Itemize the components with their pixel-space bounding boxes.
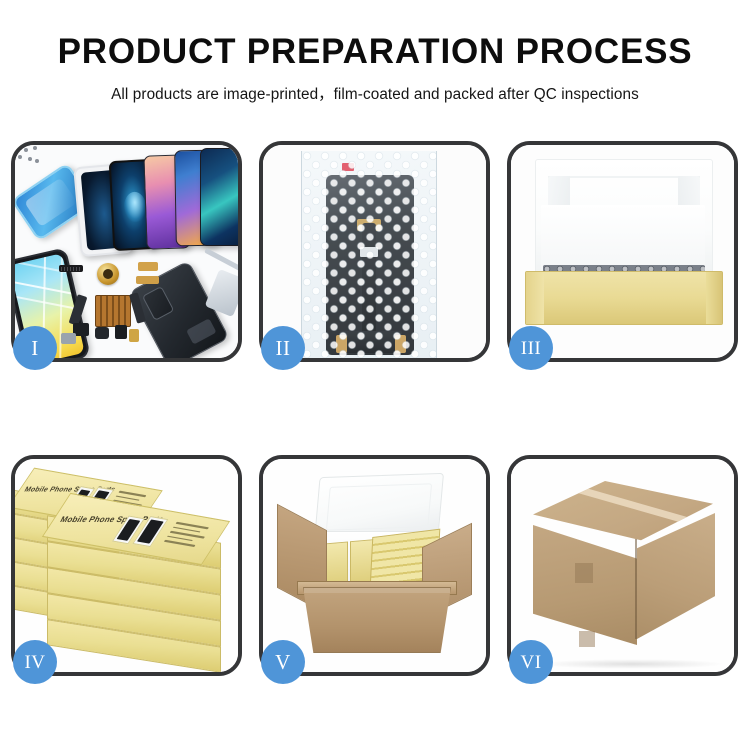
box-stack-group: Mobile Phone Spare Parts Mobile Phone Sp… (15, 475, 238, 672)
page-header: PRODUCT PREPARATION PROCESS All products… (0, 0, 750, 104)
foam-box-photo (511, 145, 734, 358)
box-spec-lines (162, 522, 212, 551)
flex-connector-part-icon (59, 265, 83, 272)
sim-tray-part-icon (61, 333, 76, 344)
open-carton-photo (263, 459, 486, 672)
step-badge-3: III (509, 326, 553, 370)
step-3-image (511, 145, 734, 358)
tweezers-icon (204, 248, 238, 271)
page-title: PRODUCT PREPARATION PROCESS (0, 34, 750, 71)
process-step-card-5[interactable]: V (259, 455, 490, 676)
kraft-box-tray-icon (525, 271, 723, 325)
gold-contact-part-icon (129, 329, 139, 342)
sealed-carton-photo (511, 459, 734, 672)
carton-left-face (533, 525, 637, 645)
step-6-image (511, 459, 734, 672)
gold-flex-part-icon-2 (136, 276, 159, 284)
carton-tab-upper (575, 563, 593, 583)
carton-corner-seam (635, 539, 637, 639)
phone-parts-photo (15, 145, 238, 358)
copper-coil-part-icon (97, 263, 119, 285)
bubble-wrap-sleeve-icon (301, 151, 437, 358)
step-badge-2: II (261, 326, 305, 370)
process-step-card-6[interactable]: VI (507, 455, 738, 676)
step-badge-4: IV (13, 640, 57, 684)
step-badge-6: VI (509, 640, 553, 684)
stacked-boxes-photo: Mobile Phone Spare Parts Mobile Phone Sp… (15, 459, 238, 672)
bubble-texture-icon (302, 151, 436, 358)
vibrator-part-icon (115, 325, 127, 339)
step-1-image (15, 145, 238, 358)
carton-front-panel-icon (303, 587, 451, 653)
step-5-image (263, 459, 486, 672)
process-step-card-2[interactable]: II (259, 141, 490, 362)
screws-group-icon (15, 145, 39, 167)
bubble-wrapped-screen-photo (263, 145, 486, 358)
gold-flex-part-icon (138, 262, 158, 271)
shipping-carton-icon (529, 481, 725, 659)
connector-grid-part-icon (95, 295, 131, 327)
process-step-card-4[interactable]: Mobile Phone Spare Parts Mobile Phone Sp… (11, 455, 242, 676)
process-step-card-1[interactable]: I (11, 141, 242, 362)
step-badge-5: V (261, 640, 305, 684)
page-subtitle: All products are image-printed，film-coat… (0, 82, 750, 104)
carton-shadow (539, 659, 725, 669)
process-step-card-3[interactable]: III (507, 141, 738, 362)
teal-wave-phone-icon (200, 148, 238, 246)
step-4-image: Mobile Phone Spare Parts Mobile Phone Sp… (15, 459, 238, 672)
process-step-grid: I II (11, 141, 739, 676)
carton-tab-lower (579, 631, 595, 647)
step-2-image (263, 145, 486, 358)
speaker-part-icon (95, 327, 109, 339)
step-badge-1: I (13, 326, 57, 370)
